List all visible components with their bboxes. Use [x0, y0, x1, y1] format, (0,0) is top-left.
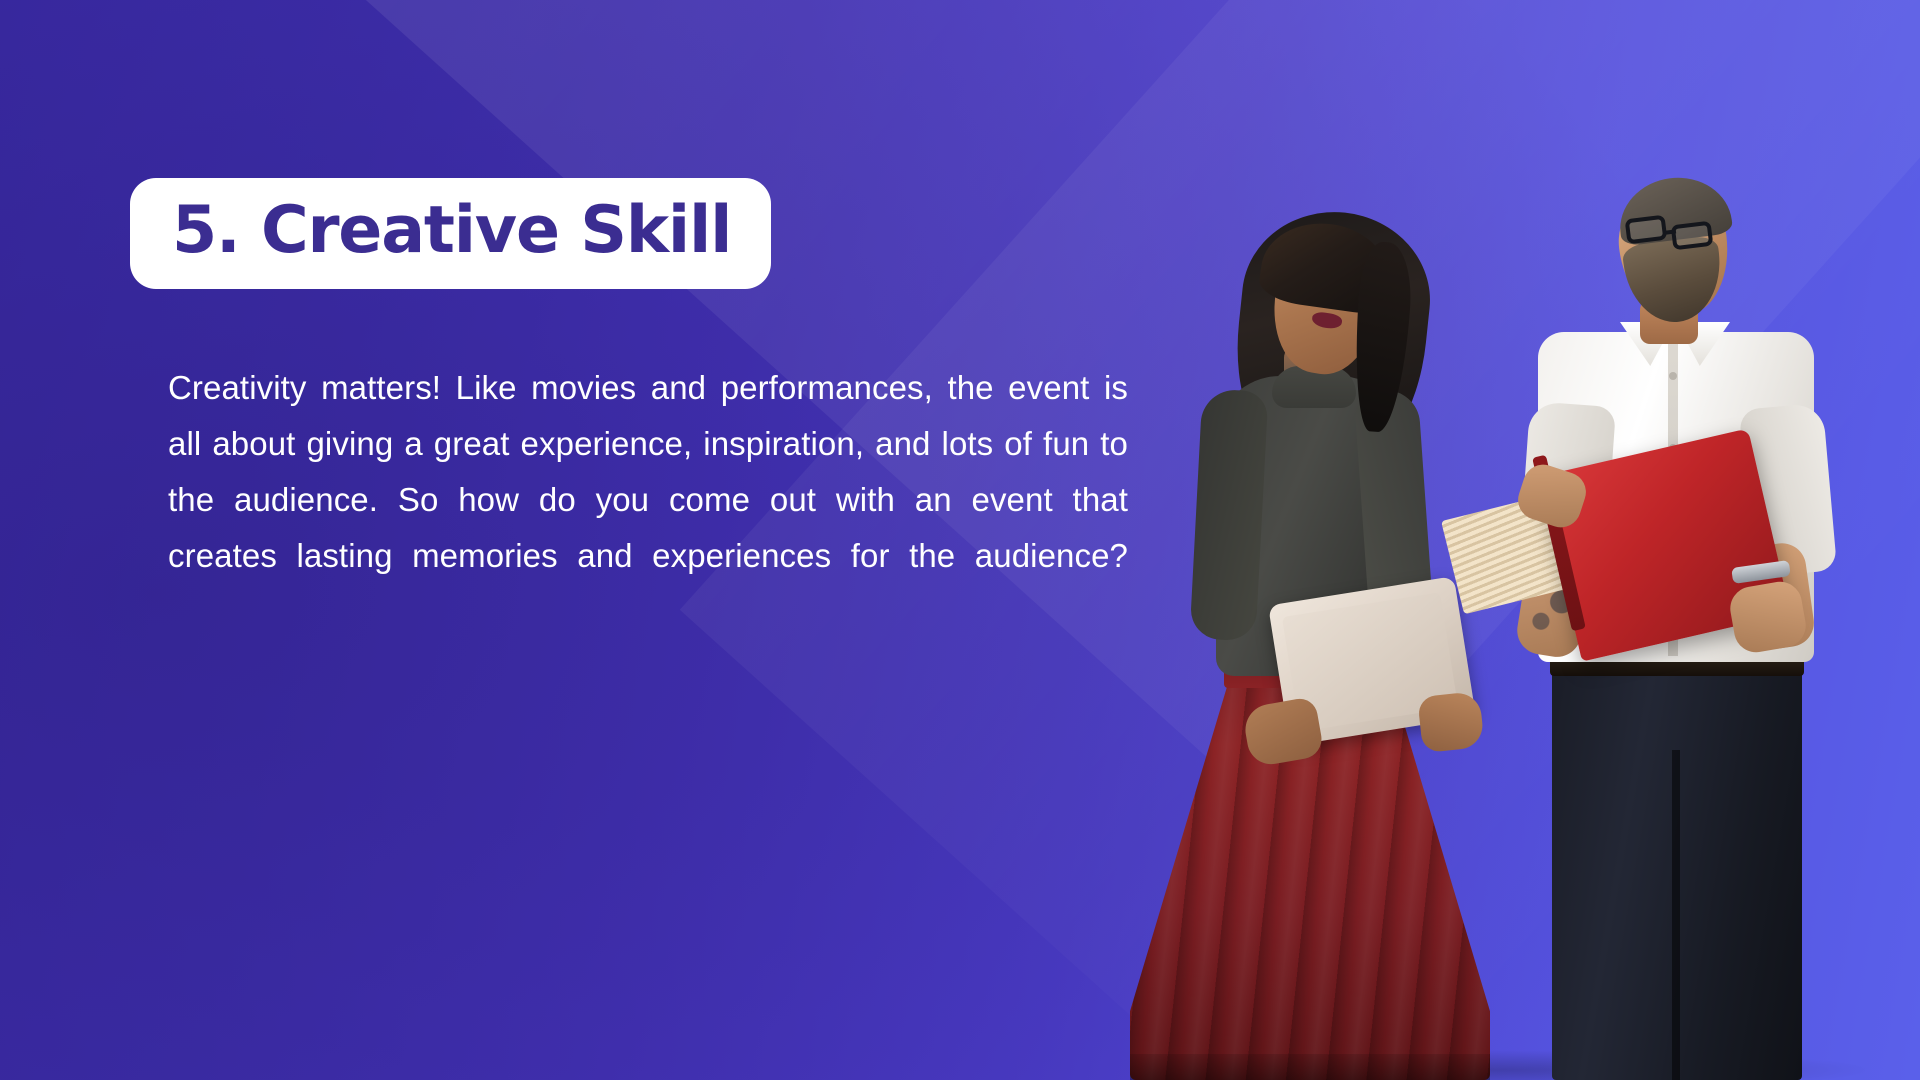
page-title: 5. Creative Skill: [172, 198, 731, 263]
eyeglasses-right-lens: [1671, 221, 1714, 251]
people-photo: [1120, 0, 1920, 1080]
slide-canvas: 5. Creative Skill Creativity matters! Li…: [0, 0, 1920, 1080]
eyeglasses-left-lens: [1625, 215, 1668, 245]
man-beard: [1621, 234, 1726, 327]
woman-right-hand: [1417, 691, 1485, 753]
man-jeans-seam: [1672, 750, 1680, 1080]
woman-left-arm: [1190, 388, 1269, 641]
man-shirt-button: [1669, 372, 1677, 380]
body-paragraph: Creativity matters! Like movies and perf…: [168, 360, 1128, 640]
woman-skirt-hem: [1130, 1054, 1490, 1080]
title-card: 5. Creative Skill: [130, 178, 771, 289]
